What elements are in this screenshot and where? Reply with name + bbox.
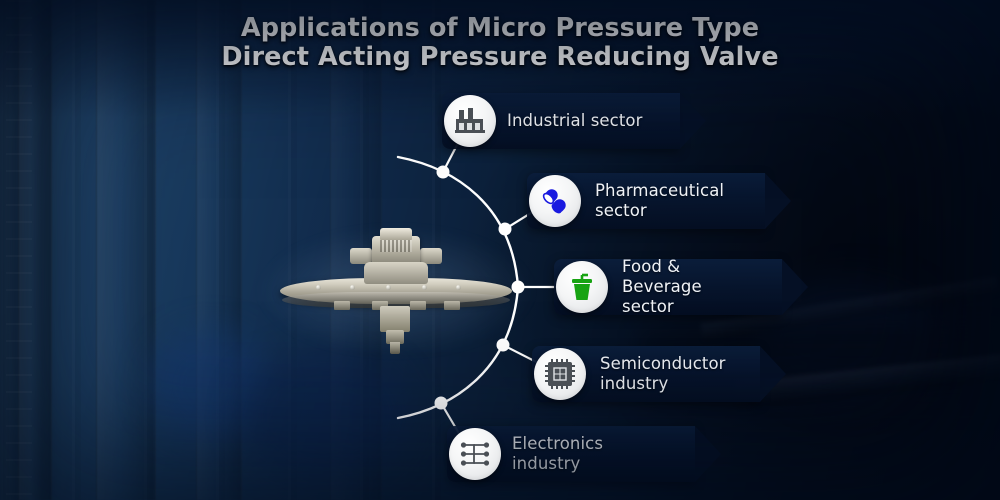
arc-node	[499, 223, 512, 236]
list-item-electronics-industry[interactable]: Electronics industry	[447, 426, 695, 482]
circuit-icon	[449, 428, 501, 480]
arc-node	[435, 397, 448, 410]
factory-icon-glyph	[455, 108, 485, 134]
pills-icon-glyph	[540, 186, 570, 216]
chip-icon-glyph	[545, 359, 575, 389]
factory-icon	[444, 95, 496, 147]
item-label: Food & Beverage sector	[622, 259, 748, 315]
infographic-canvas: Applications of Micro Pressure Type Dire…	[0, 0, 1000, 500]
arc-node	[497, 339, 510, 352]
item-label: Industrial sector	[507, 93, 646, 149]
drink-cup-icon	[556, 261, 608, 313]
circuit-icon-glyph	[460, 441, 490, 467]
chip-icon	[534, 348, 586, 400]
connector-diagram	[0, 0, 1000, 500]
list-item-industrial-sector[interactable]: Industrial sector	[442, 93, 680, 149]
list-item-food-beverage-sector[interactable]: Food & Beverage sector	[554, 259, 782, 315]
list-item-pharmaceutical-sector[interactable]: Pharmaceutical sector	[527, 173, 765, 229]
item-label: Semiconductor industry	[600, 346, 726, 402]
arc-node	[437, 166, 450, 179]
list-item-semiconductor-industry[interactable]: Semiconductor industry	[532, 346, 760, 402]
arc-node	[512, 281, 525, 294]
connector-arc	[398, 157, 518, 418]
drink-cup-icon-glyph	[569, 272, 595, 302]
pills-icon	[529, 175, 581, 227]
item-label: Electronics industry	[512, 426, 661, 482]
item-label: Pharmaceutical sector	[595, 173, 731, 229]
